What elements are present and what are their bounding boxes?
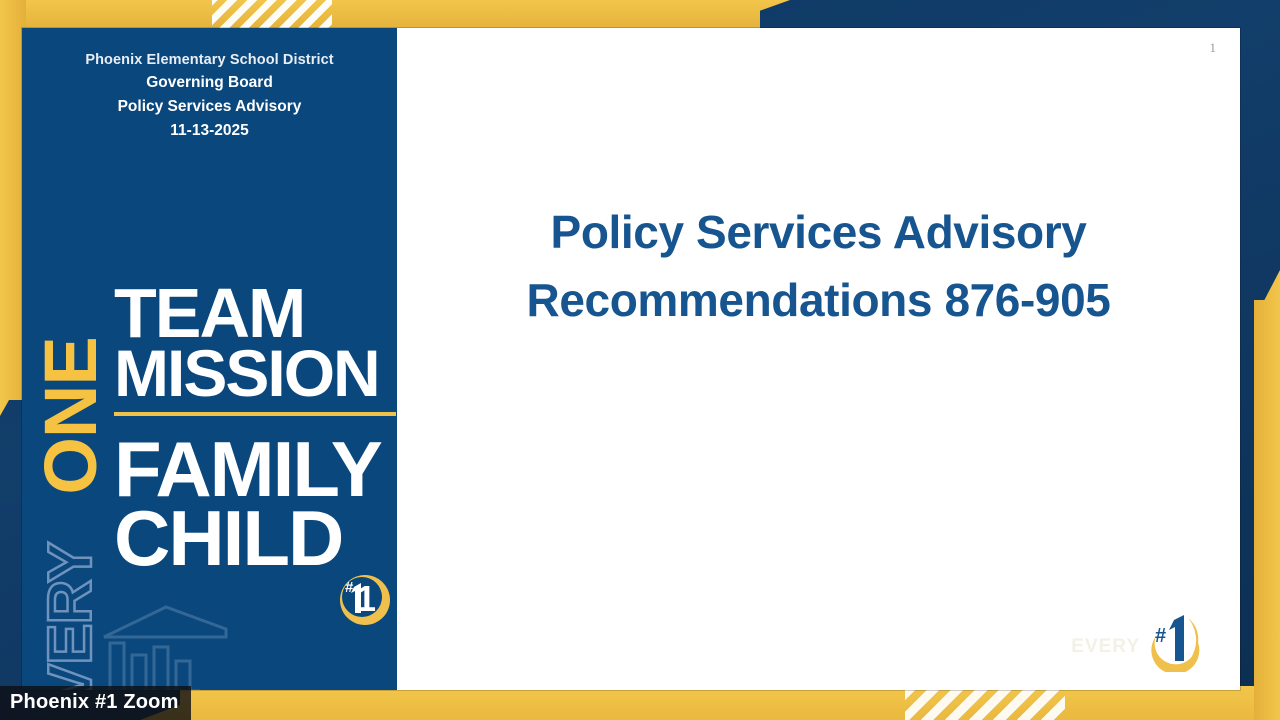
district-name: Phoenix Elementary School District — [36, 50, 383, 71]
wordmark-one: ONE — [34, 337, 108, 494]
slide-title-line-2: Recommendations 876-905 — [423, 266, 1214, 334]
number-one-badge-icon: # 1 — [332, 567, 394, 629]
gold-frame-right — [1254, 300, 1280, 720]
wordmark-vertical-column: ONE EVERY — [32, 283, 110, 690]
wordmark-family: FAMILY — [114, 436, 394, 503]
slide-logo-icon: # — [1144, 610, 1206, 672]
zoom-video-stage: Phoenix Elementary School District Gover… — [0, 0, 1280, 720]
slide-logo-caption: EVERY — [1071, 636, 1140, 658]
wordmark-child: CHILD — [114, 505, 394, 572]
building-watermark-icon — [100, 603, 230, 690]
svg-text:1: 1 — [356, 578, 376, 619]
svg-text:#: # — [1155, 625, 1166, 647]
brand-wordmark: ONE EVERY TEAM MISSION FAMILY CHILD # — [22, 283, 397, 690]
presentation-slide: Phoenix Elementary School District Gover… — [22, 28, 1240, 690]
slide-content-area: 1 Policy Services Advisory Recommendatio… — [397, 28, 1240, 690]
wordmark-team: TEAM — [114, 283, 394, 343]
slide-title: Policy Services Advisory Recommendations… — [397, 198, 1240, 334]
gold-divider-rule — [114, 412, 396, 416]
committee-name: Policy Services Advisory — [36, 95, 383, 119]
gold-frame-bottom — [180, 686, 1280, 720]
slide-number: 1 — [1210, 40, 1217, 56]
governing-board-label: Governing Board — [36, 71, 383, 95]
wordmark-mission: MISSION — [114, 345, 394, 402]
meeting-date: 11-13-2025 — [36, 119, 383, 143]
participant-name-overlay: Phoenix #1 Zoom — [0, 686, 191, 720]
svg-text:#: # — [345, 579, 354, 596]
wordmark-every: EVERY — [40, 543, 102, 690]
slide-title-line-1: Policy Services Advisory — [423, 198, 1214, 266]
wordmark-horizontal-column: TEAM MISSION FAMILY CHILD — [114, 283, 394, 572]
sidebar-header: Phoenix Elementary School District Gover… — [22, 28, 397, 143]
slide-sidebar-panel: Phoenix Elementary School District Gover… — [22, 28, 397, 690]
